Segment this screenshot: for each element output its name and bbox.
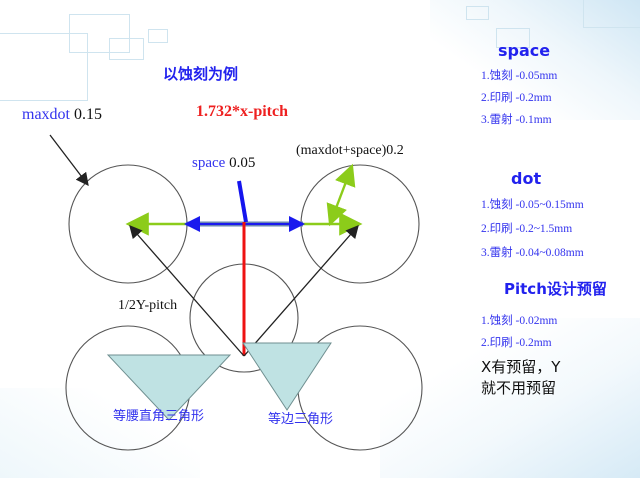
maxdot-leader	[50, 135, 88, 185]
panel-item-pitch-1: 1.蚀刻 -0.02mm	[481, 315, 557, 328]
maxdot-plus-space-arrow	[330, 166, 352, 224]
half-y-pitch-arrow-right	[244, 226, 358, 356]
space-label: space 0.05	[192, 155, 255, 172]
triangle-equilateral	[243, 343, 331, 410]
space-label-name: space	[192, 155, 225, 171]
triangle-caption-isosceles-right: 等腰直角三角形	[113, 410, 204, 424]
panel-item-dot-2: 2.印刷 -0.2~1.5mm	[481, 223, 572, 236]
half-y-pitch-label: 1/2Y-pitch	[118, 298, 177, 313]
panel-item-space-1: 1.蚀刻 -0.05mm	[481, 70, 557, 83]
panel-item-pitch-2: 2.印刷 -0.2mm	[481, 337, 552, 350]
space-callout-pointer	[239, 181, 246, 222]
panel-item-space-3: 3.雷射 -0.1mm	[481, 114, 552, 127]
half-y-pitch-arrow-left	[130, 226, 244, 356]
slide-canvas: 以蚀刻为例 1.732*x-pitch maxdot 0.15 space 0.…	[0, 0, 640, 478]
space-label-value: 0.05	[229, 155, 255, 171]
panel-note-line-1: X有预留，Y	[481, 358, 560, 377]
panel-heading-pitch: Pitch设计预留	[504, 281, 607, 298]
slide-title: 以蚀刻为例	[163, 66, 238, 83]
panel-note-line-2: 就不用预留	[481, 379, 556, 398]
panel-item-dot-1: 1.蚀刻 -0.05~0.15mm	[481, 199, 584, 212]
maxdot-label-value: 0.15	[74, 106, 102, 123]
triangle-caption-equilateral: 等边三角形	[268, 413, 333, 427]
panel-heading-space: space	[498, 42, 550, 60]
panel-heading-dot: dot	[511, 170, 541, 188]
pitch-formula: 1.732*x-pitch	[196, 103, 288, 121]
maxdot-space-label: (maxdot+space)0.2	[296, 143, 404, 158]
panel-item-space-2: 2.印刷 -0.2mm	[481, 92, 552, 105]
panel-item-dot-3: 3.雷射 -0.04~0.08mm	[481, 247, 584, 260]
maxdot-label: maxdot 0.15	[22, 106, 102, 124]
maxdot-label-name: maxdot	[22, 106, 70, 123]
